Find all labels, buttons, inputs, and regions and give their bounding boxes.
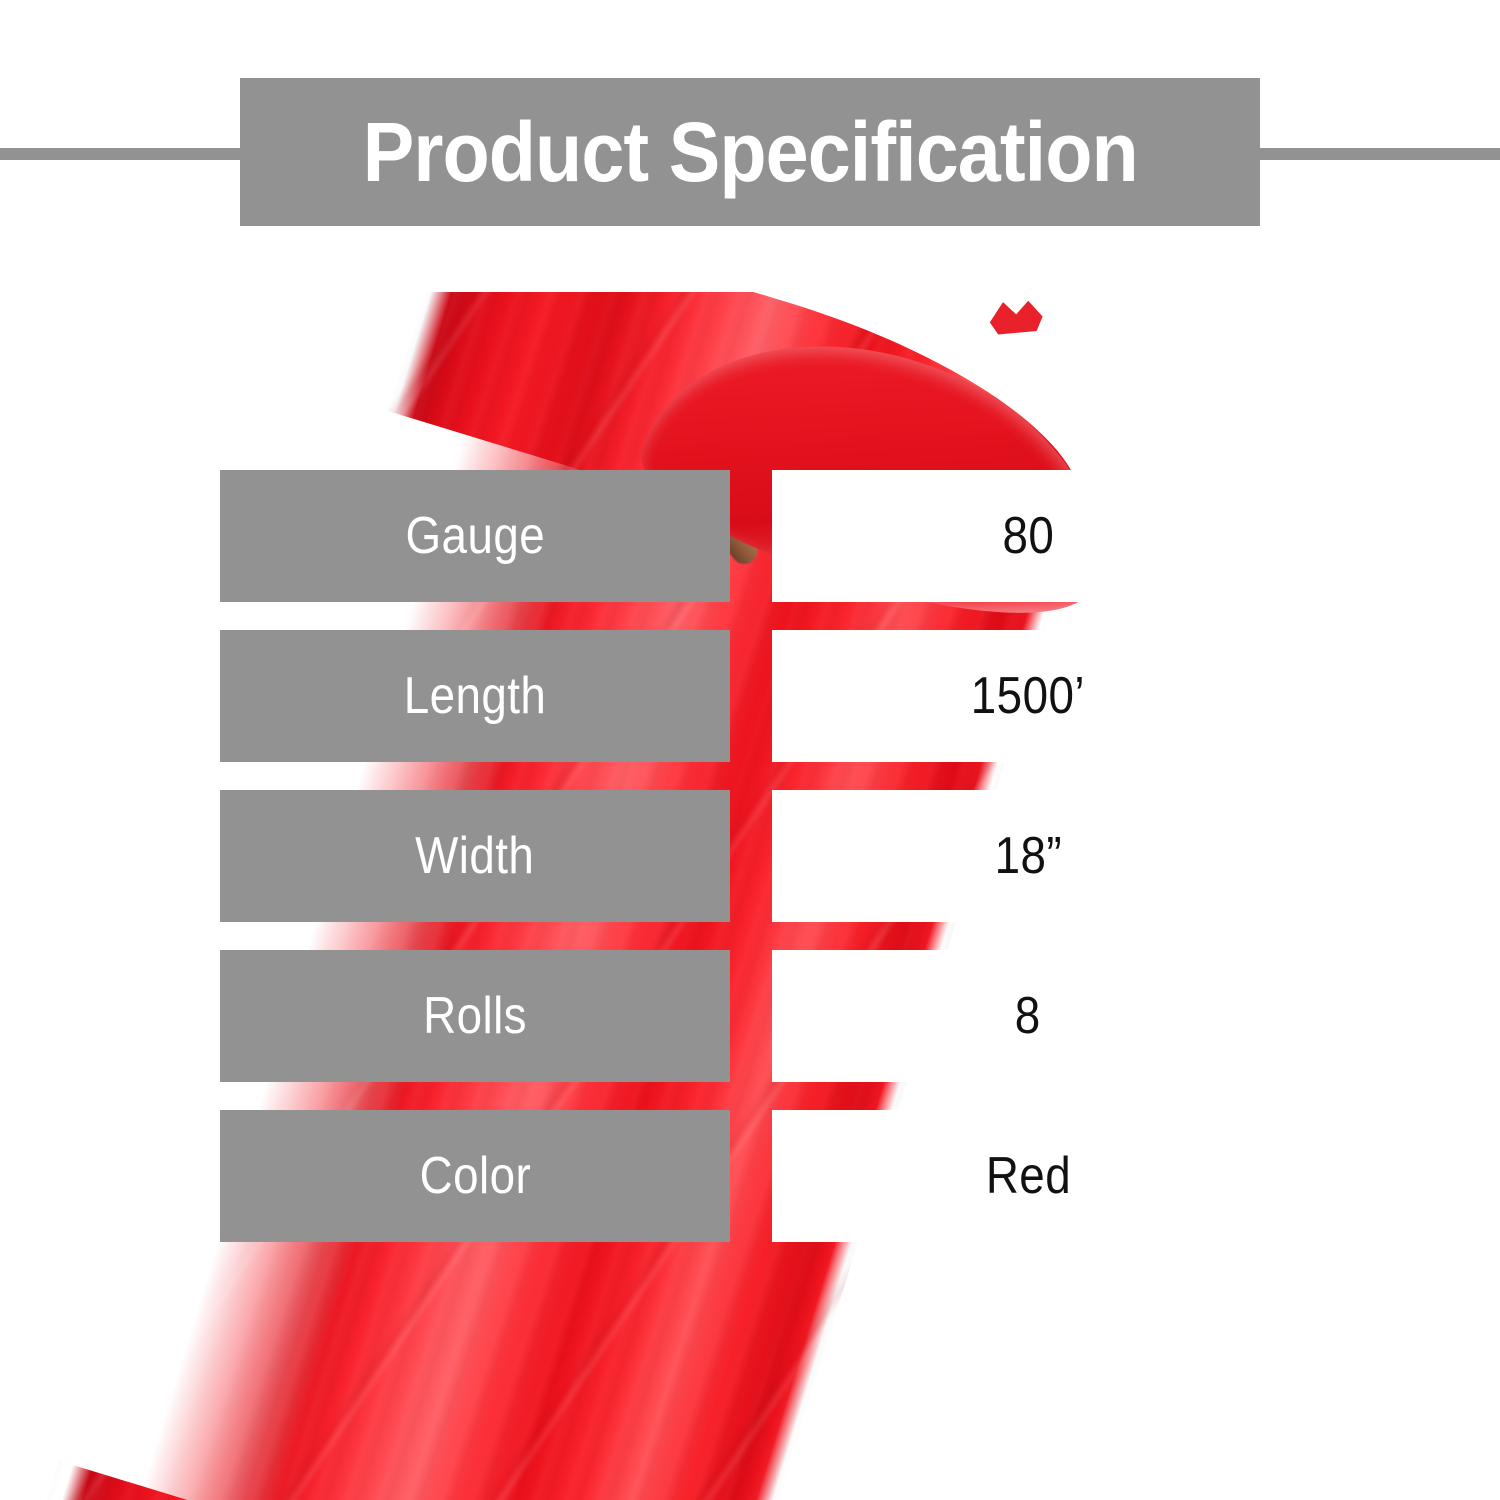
table-row: Width 18” [220, 790, 1284, 922]
spec-label-width: Width [220, 790, 730, 922]
product-spec-card: Product Specification Gauge 80 Length 15… [0, 0, 1500, 1500]
spec-value-text: 8 [1015, 986, 1041, 1046]
row-gap [730, 950, 772, 1082]
horizontal-rule-right [1252, 148, 1500, 160]
spec-value-color: Red [772, 1110, 1284, 1242]
row-gap [730, 470, 772, 602]
table-row: Rolls 8 [220, 950, 1284, 1082]
spec-label-text: Length [404, 666, 547, 726]
spec-label-color: Color [220, 1110, 730, 1242]
spec-value-gauge: 80 [772, 470, 1284, 602]
row-gap [730, 1110, 772, 1242]
horizontal-rule-left [0, 148, 248, 160]
spec-label-text: Width [415, 826, 534, 886]
table-row: Color Red [220, 1110, 1284, 1242]
spec-label-rolls: Rolls [220, 950, 730, 1082]
spec-label-text: Color [419, 1146, 531, 1206]
spec-label-gauge: Gauge [220, 470, 730, 602]
spec-value-text: Red [985, 1146, 1070, 1206]
spec-label-text: Gauge [405, 506, 545, 566]
specification-table: Gauge 80 Length 1500’ Width 18” Rolls 8 … [220, 470, 1284, 1242]
spec-value-text: 80 [1002, 506, 1054, 566]
table-row: Gauge 80 [220, 470, 1284, 602]
spec-value-length: 1500’ [772, 630, 1284, 762]
row-gap [730, 790, 772, 922]
title-banner: Product Specification [240, 78, 1260, 226]
table-row: Length 1500’ [220, 630, 1284, 762]
spec-value-rolls: 8 [772, 950, 1284, 1082]
spec-label-text: Rolls [423, 986, 527, 1046]
spec-value-text: 18” [994, 826, 1061, 886]
spec-value-width: 18” [772, 790, 1284, 922]
page-title: Product Specification [362, 110, 1137, 194]
row-gap [730, 630, 772, 762]
spec-value-text: 1500’ [971, 666, 1085, 726]
torn-film-tab [985, 300, 1045, 336]
spec-label-length: Length [220, 630, 730, 762]
